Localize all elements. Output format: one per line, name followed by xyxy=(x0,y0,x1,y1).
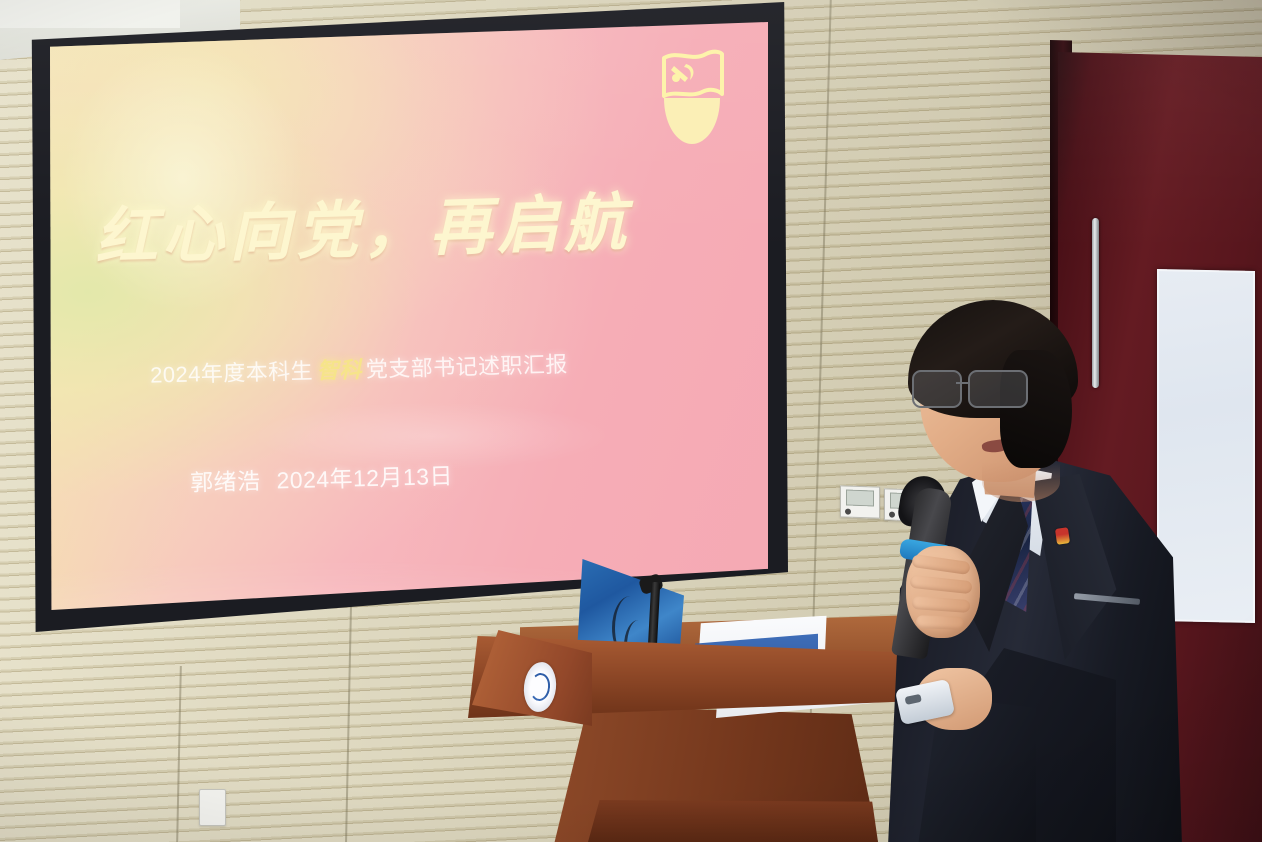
eyeglass-lens-right xyxy=(968,370,1028,408)
screen-surface: 红心向党，再启航 2024年度本科生智科党支部书记述职汇报 郭绪浩2024年12… xyxy=(50,22,768,610)
presenter-name: 郭绪浩 xyxy=(190,468,261,496)
crest-mark-icon xyxy=(528,672,551,702)
hair-side xyxy=(1000,350,1072,468)
party-emblem-lapel-badge-icon xyxy=(1055,527,1070,545)
slide-subtitle-highlight: 智科 xyxy=(313,357,367,384)
speaker-at-podium xyxy=(860,296,1190,842)
eyeglass-lens-left xyxy=(912,370,962,408)
presentation-slide: 红心向党，再启航 2024年度本科生智科党支部书记述职汇报 郭绪浩2024年12… xyxy=(50,22,768,610)
thermostat-indicator-icon xyxy=(845,508,851,514)
chin-shadow xyxy=(982,462,1060,502)
slide-glow xyxy=(50,22,351,364)
finger xyxy=(916,615,964,630)
presentation-room-photo: 红心向党，再启航 2024年度本科生智科党支部书记述职汇报 郭绪浩2024年12… xyxy=(0,0,1262,842)
wall-outlet-plate[interactable] xyxy=(199,789,226,826)
projection-screen: 红心向党，再启航 2024年度本科生智科党支部书记述职汇报 郭绪浩2024年12… xyxy=(28,2,788,632)
slide-subtitle-post: 党支部书记述职汇报 xyxy=(365,351,568,381)
ceiling-edge xyxy=(0,0,180,28)
party-flag-emblem-icon xyxy=(648,40,736,152)
podium-base xyxy=(588,800,878,842)
slide-title: 红心向党，再启航 xyxy=(94,187,709,269)
eyeglasses-icon xyxy=(912,370,1034,406)
slide-subtitle-pre: 2024年度本科生 xyxy=(150,358,314,387)
presentation-date: 2024年12月13日 xyxy=(276,463,453,494)
clicker-button-icon[interactable] xyxy=(905,694,922,705)
